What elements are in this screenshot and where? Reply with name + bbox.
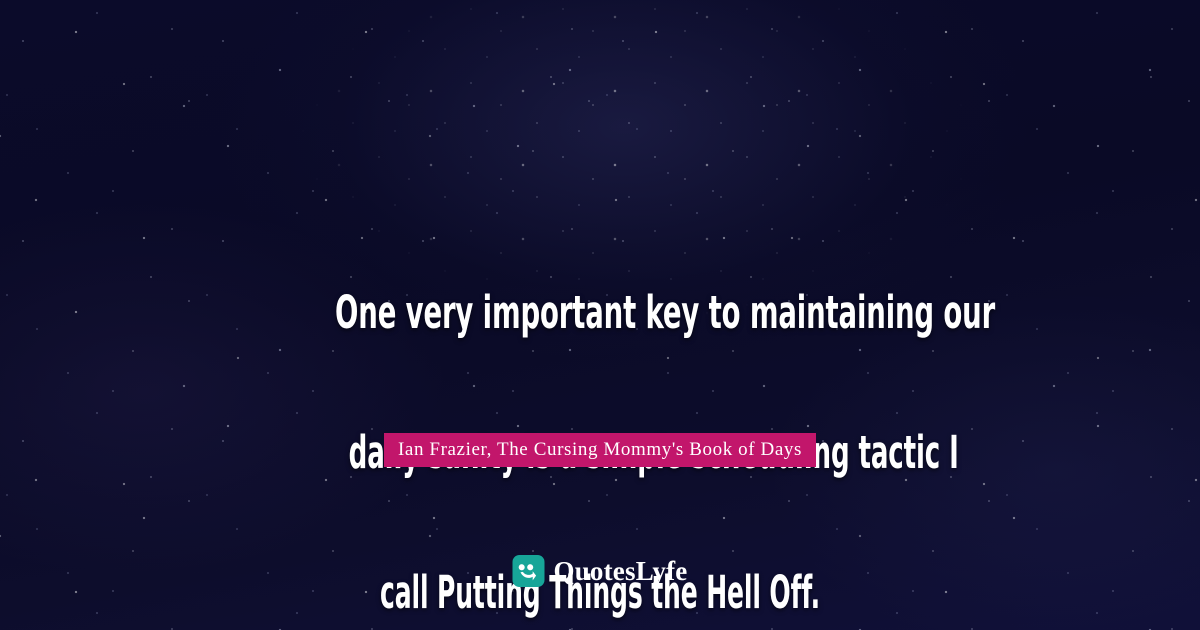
- brand-name: QuotesLyfe: [554, 558, 688, 585]
- quote-card: One very important key to maintaining ou…: [0, 0, 1200, 630]
- card-content: One very important key to maintaining ou…: [0, 0, 1200, 630]
- quote-mark-icon: [513, 555, 545, 587]
- attribution-badge: Ian Frazier, The Cursing Mommy's Book of…: [384, 433, 816, 467]
- quote-line-1: One very important key to maintaining ou…: [335, 278, 865, 348]
- brand-logo[interactable]: QuotesLyfe: [513, 555, 688, 587]
